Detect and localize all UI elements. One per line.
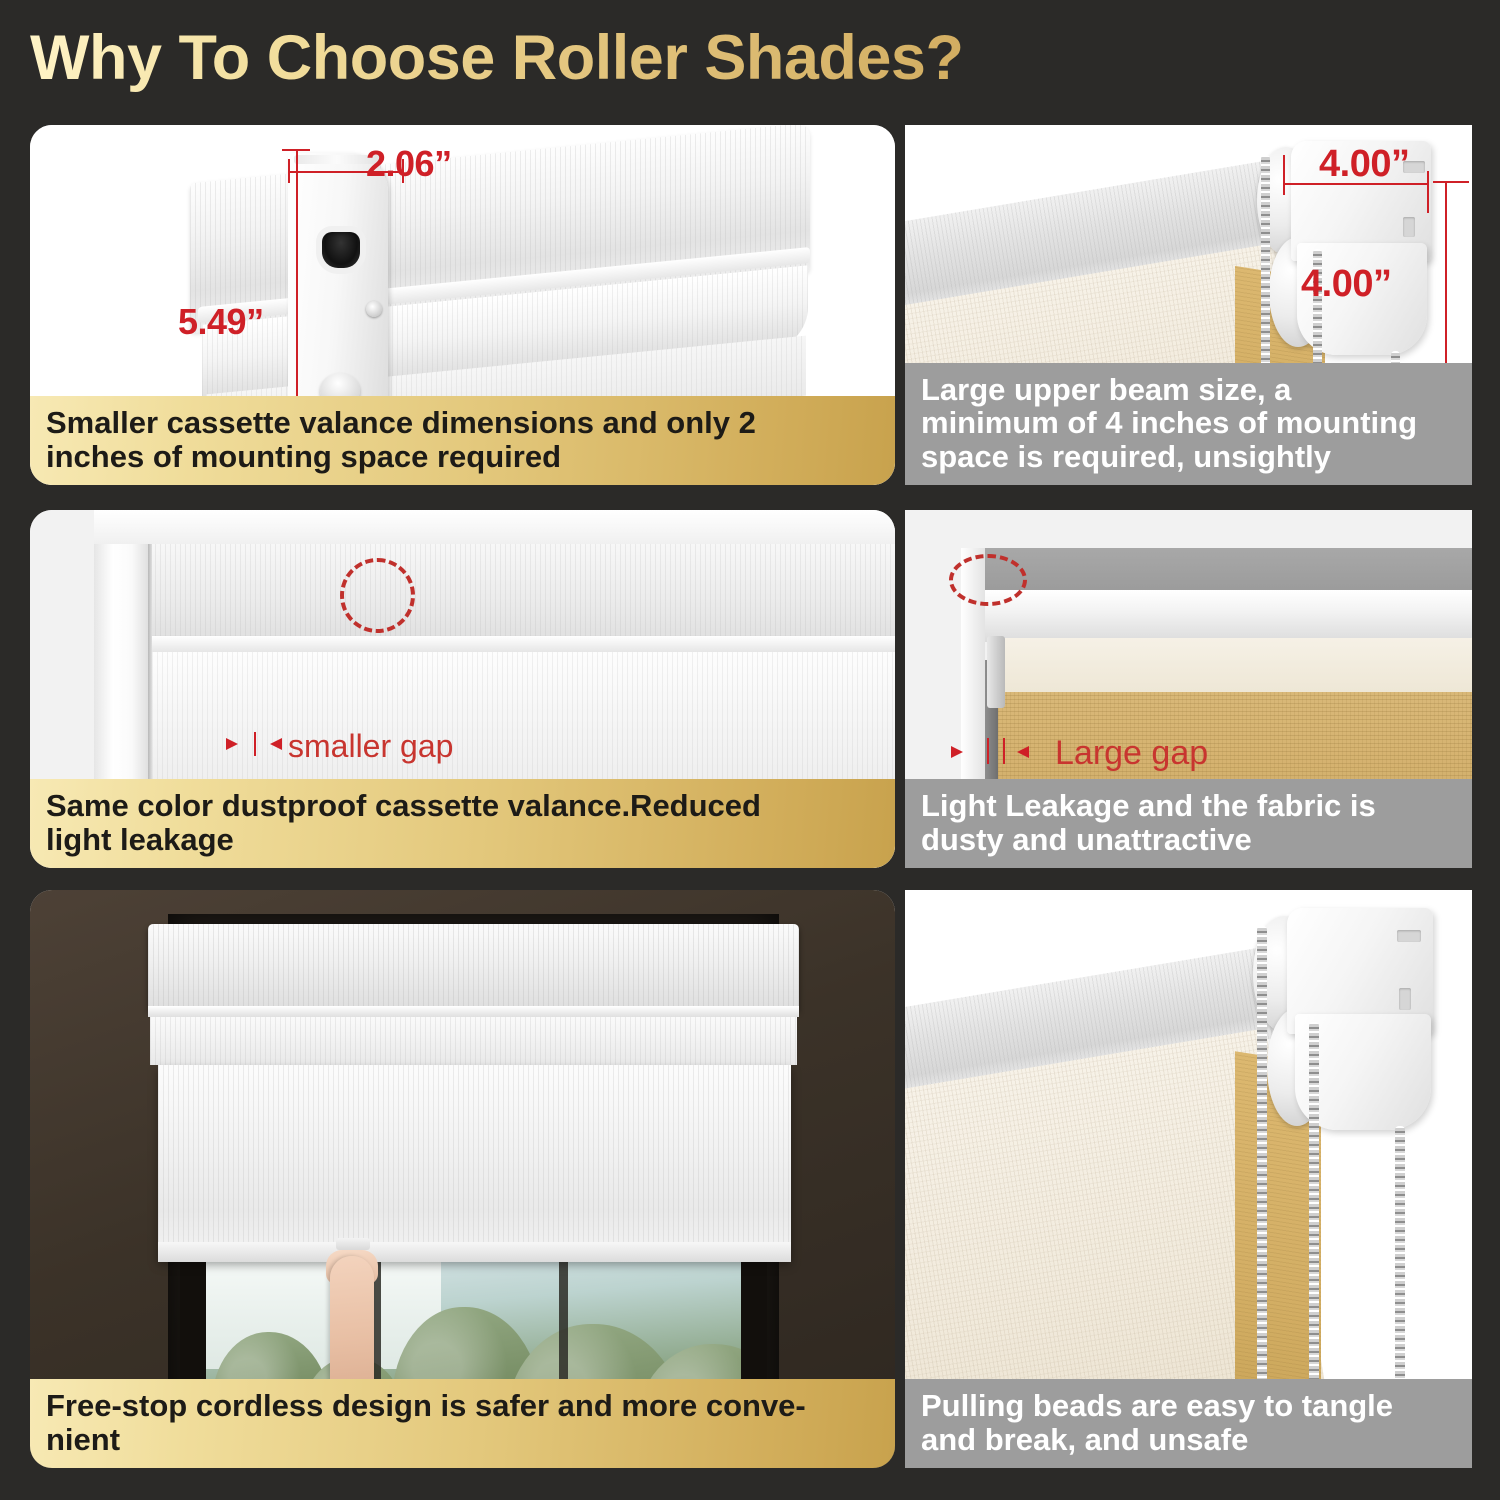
cassette-screw-upper [366, 301, 382, 317]
gap-highlight-circle [949, 554, 1027, 606]
caption-line: Large upper beam size, a [921, 373, 1456, 406]
panel-caption-smaller-gap: Same color dustproof cassette valance.Re… [30, 779, 895, 868]
page-title: Why To Choose Roller Shades? [30, 22, 1030, 94]
panel-smaller-cassette: 2.06” 5.49” Smaller cassette valance dim… [30, 125, 895, 485]
caption-line: nient [46, 1423, 879, 1456]
panel-large-upper-beam: 4.00” 4.00” Large upper beam size, a min… [905, 125, 1472, 485]
bead-chain [1309, 1022, 1319, 1432]
gap-label-smaller: smaller gap [288, 728, 453, 765]
caption-line: Same color dustproof cassette valance.Re… [46, 789, 879, 822]
caption-line: light leakage [46, 823, 879, 856]
caption-line: Pulling beads are easy to tangle [921, 1389, 1456, 1422]
gap-arrow-left [951, 746, 963, 758]
panel-caption-cordless-design: Free-stop cordless design is safer and m… [30, 1379, 895, 1468]
dimension-label-width: 2.06” [366, 143, 452, 185]
cassette-cord-hole [322, 232, 360, 268]
infographic-root: Why To Choose Roller Shades? 2.06” 5.49”… [0, 0, 1500, 1500]
caption-line: space is required, unsightly [921, 440, 1456, 473]
caption-line: Smaller cassette valance dimensions and … [46, 406, 879, 439]
gap-arrow-right [1017, 746, 1029, 758]
dimension-label-beam-height: 4.00” [1301, 263, 1391, 306]
panel-caption-pulling-beads: Pulling beads are easy to tangle and bre… [905, 1379, 1472, 1468]
caption-line: and break, and unsafe [921, 1423, 1456, 1456]
panel-cordless-design: Free-stop cordless design is safer and m… [30, 890, 895, 1468]
shade-pull-tab [336, 1238, 370, 1250]
gap-arrow-right [270, 738, 282, 750]
gap-arrow-left [226, 738, 238, 750]
caption-line: inches of mounting space required [46, 440, 879, 473]
gap-highlight-circle [340, 558, 415, 633]
panel-caption-large-upper-beam: Large upper beam size, a minimum of 4 in… [905, 363, 1472, 485]
panel-caption-smaller-cassette: Smaller cassette valance dimensions and … [30, 396, 895, 485]
panel-large-gap: Large gap Light Leakage and the fabric i… [905, 510, 1472, 868]
panel-smaller-gap: smaller gap Same color dustproof cassett… [30, 510, 895, 868]
caption-line: Free-stop cordless design is safer and m… [46, 1389, 879, 1422]
gap-label-large: Large gap [1055, 734, 1208, 773]
panel-pulling-beads: Pulling beads are easy to tangle and bre… [905, 890, 1472, 1468]
caption-line: Light Leakage and the fabric is [921, 789, 1456, 822]
bead-chain [1257, 926, 1267, 1431]
caption-line: dusty and unattractive [921, 823, 1456, 856]
dimension-label-height: 5.49” [178, 301, 264, 343]
dimension-label-beam-width: 4.00” [1319, 143, 1409, 186]
caption-line: minimum of 4 inches of mounting [921, 406, 1456, 439]
panel-caption-large-gap: Light Leakage and the fabric is dusty an… [905, 779, 1472, 868]
